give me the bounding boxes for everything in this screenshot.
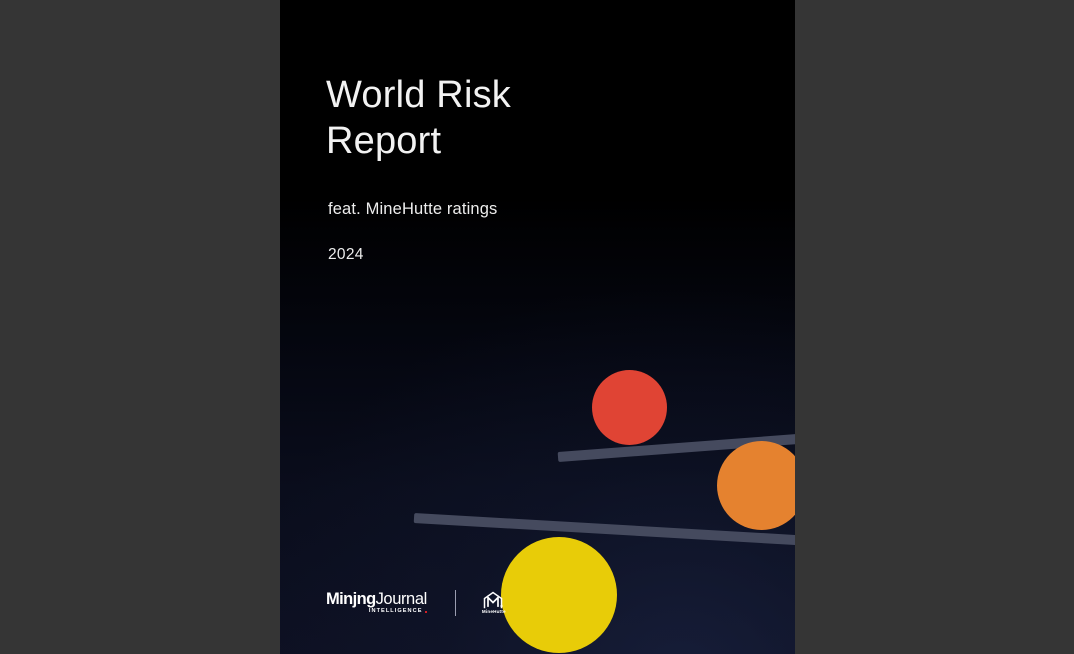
- page-title: World Risk Report: [326, 72, 746, 164]
- mj-word-part-1: Min: [326, 590, 353, 608]
- minehutte-name: MineHutte: [482, 610, 506, 615]
- cover-subtitle: feat. MineHutte ratings: [328, 200, 746, 219]
- pdf-page: World Risk Report feat. MineHutte rating…: [280, 0, 795, 654]
- minehutte-logo: MineHutte: [482, 591, 506, 615]
- mining-journal-tagline: INTELLIGENCE: [369, 609, 423, 615]
- mining-journal-wordmark: MinjngJournal: [326, 591, 427, 608]
- cover-footer: MinjngJournal INTELLIGENCE MineHutte: [326, 590, 506, 616]
- mj-word-part-3: Journal: [376, 590, 427, 608]
- document-viewer: World Risk Report feat. MineHutte rating…: [0, 0, 1074, 654]
- mining-journal-accent-dot: [425, 611, 427, 613]
- mining-journal-logo: MinjngJournal INTELLIGENCE: [326, 591, 427, 615]
- mining-journal-tagline-wrap: INTELLIGENCE: [369, 609, 427, 615]
- mj-word-part-2: jng: [353, 590, 376, 608]
- red-circle-shape: [592, 370, 667, 445]
- cover-year: 2024: [328, 246, 746, 264]
- logo-divider: [455, 590, 456, 616]
- orange-circle-shape: [717, 441, 795, 530]
- cover-text-block: World Risk Report feat. MineHutte rating…: [326, 72, 746, 264]
- minehutte-house-icon: [483, 591, 504, 609]
- yellow-circle-shape: [501, 537, 617, 653]
